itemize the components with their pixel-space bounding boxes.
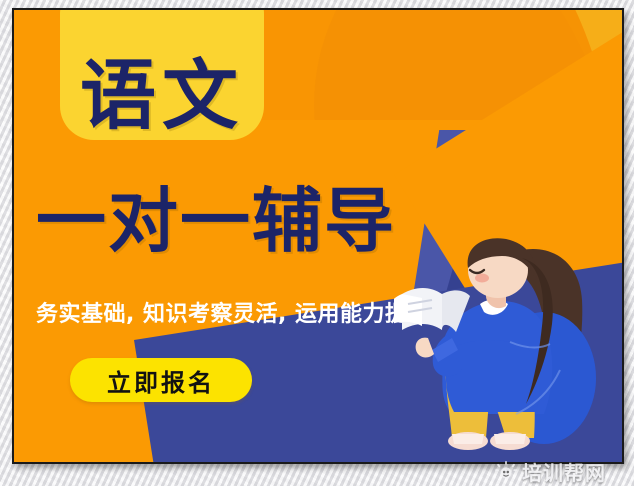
- sunburst-face-icon: [495, 461, 517, 483]
- enroll-now-button-label: 立即报名: [107, 363, 215, 398]
- promo-banner: 语文 一对一辅导 务实基础, 知识考察灵活, 运用能力提升 立即报名: [12, 8, 624, 464]
- girl-reading-illustration: [394, 238, 624, 464]
- site-watermark-label: 培训帮网: [522, 457, 606, 486]
- site-watermark: 培训帮网: [495, 457, 606, 486]
- subject-badge-label: 语文: [80, 58, 244, 134]
- enroll-now-button[interactable]: 立即报名: [70, 358, 252, 402]
- subject-badge: 语文: [60, 8, 264, 140]
